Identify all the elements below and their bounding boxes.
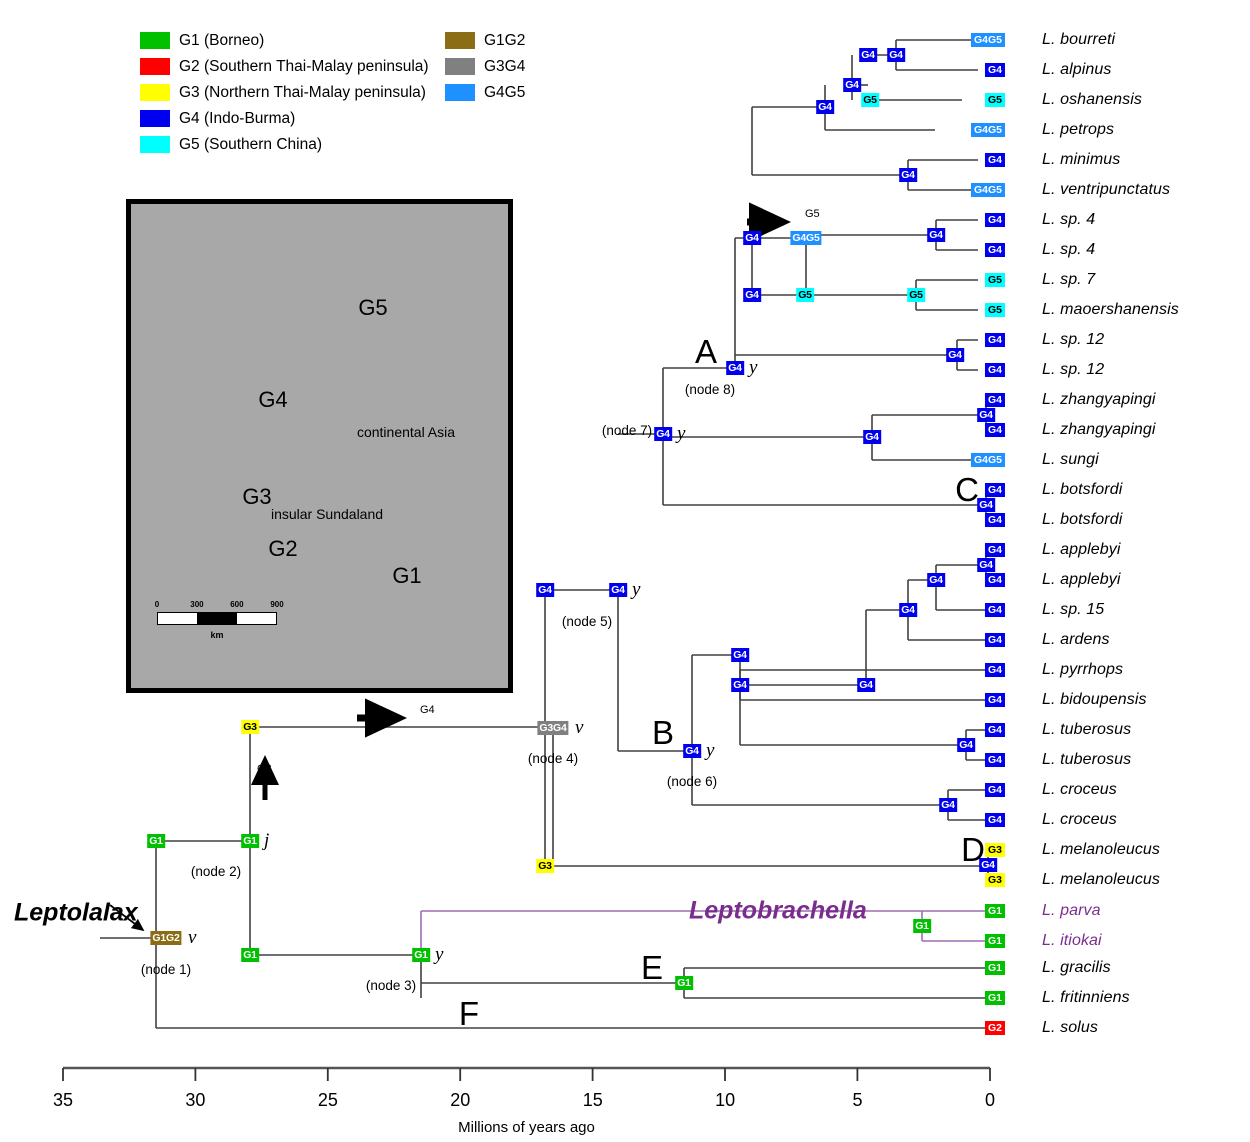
node-badge-node-5: G4 xyxy=(609,583,627,597)
tip-badge-6: G4 xyxy=(985,213,1005,227)
node-badge-10: G5 xyxy=(796,288,814,302)
map-label-g4: G4 xyxy=(258,387,287,413)
tip-label-32: L. fritinniens xyxy=(1042,989,1130,1007)
inset-map: G5G4G3G2G1continental Asiainsular Sundal… xyxy=(126,199,513,693)
legend-item: G4 (Indo-Burma) xyxy=(140,106,429,130)
node-badge-14: G4 xyxy=(863,430,881,444)
tip-label-4: L. minimus xyxy=(1042,151,1120,169)
node-badge-30: G4 xyxy=(536,583,554,597)
tip-label-15: L. botsfordi xyxy=(1042,481,1122,499)
legend-label-g5: G5 (Southern China) xyxy=(179,136,322,153)
tip-badge-3: G4G5 xyxy=(971,123,1005,137)
node-badge-22: G4 xyxy=(957,738,975,752)
tip-badge-9: G5 xyxy=(985,303,1005,317)
node-badge-6: G4 xyxy=(927,228,945,242)
node-event-node-1: v xyxy=(188,927,196,949)
legend-item: G4G5 xyxy=(445,80,525,104)
node-badge-25: G1 xyxy=(675,976,693,990)
node-badge-20: G4 xyxy=(857,678,875,692)
legend-swatch-g3 xyxy=(140,84,170,101)
tip-badge-19: G4 xyxy=(985,603,1005,617)
node-badge-26: G3 xyxy=(241,720,259,734)
legend-item: G1 (Borneo) xyxy=(140,28,429,52)
axis-tick-25: 25 xyxy=(318,1090,338,1111)
tip-label-27: L. melanoleucus xyxy=(1042,841,1160,859)
map-label-g1: G1 xyxy=(392,563,421,589)
tip-badge-5: G4G5 xyxy=(971,183,1005,197)
tip-badge-26: G4 xyxy=(985,813,1005,827)
legend-swatch-g2 xyxy=(140,58,170,75)
node-id-node-8: (node 8) xyxy=(685,382,735,397)
node-badge-24: G1 xyxy=(913,919,931,933)
map-scale-bar: 0 300 600 900 km xyxy=(157,612,277,625)
tip-label-33: L. solus xyxy=(1042,1019,1098,1037)
tip-badge-32: G1 xyxy=(985,991,1005,1005)
tip-label-30: L. itiokai xyxy=(1042,932,1102,950)
map-label-g5: G5 xyxy=(358,295,387,321)
node-badge-8: G4G5 xyxy=(790,231,821,245)
scale-tick-0: 0 xyxy=(155,600,159,609)
tip-label-6: L. sp. 4 xyxy=(1042,211,1095,229)
node-badge-0: G4 xyxy=(887,48,905,62)
clade-label-C: C xyxy=(955,471,979,509)
axis-tick-15: 15 xyxy=(583,1090,603,1111)
node-badge-15: G4 xyxy=(977,498,995,512)
tip-label-3: L. petrops xyxy=(1042,121,1114,139)
node-badge-4: G4 xyxy=(816,100,834,114)
node-badge-5: G4 xyxy=(899,168,917,182)
node-badge-27: G1 xyxy=(147,834,165,848)
tip-badge-15: G4 xyxy=(985,483,1005,497)
legend-item: G5 (Southern China) xyxy=(140,132,429,156)
axis-tick-10: 10 xyxy=(715,1090,735,1111)
node-event-node-3: y xyxy=(435,944,443,966)
tip-label-29: L. parva xyxy=(1042,902,1101,920)
node-badge-13: G4 xyxy=(977,408,995,422)
node-badge-9: G5 xyxy=(907,288,925,302)
map-label-g3: G3 xyxy=(242,484,271,510)
tip-label-11: L. sp. 12 xyxy=(1042,361,1104,379)
tip-badge-10: G4 xyxy=(985,333,1005,347)
legend-label-g1: G1 (Borneo) xyxy=(179,32,264,49)
clade-label-F: F xyxy=(459,995,479,1033)
map-label-layer: G5G4G3G2G1continental Asiainsular Sundal… xyxy=(131,204,498,678)
tip-label-12: L. zhangyapingi xyxy=(1042,391,1156,409)
clade-label-B: B xyxy=(652,714,674,752)
node-id-node-2: (node 2) xyxy=(191,864,241,879)
scale-tick-900: 900 xyxy=(270,600,283,609)
tip-badge-21: G4 xyxy=(985,663,1005,677)
dispersal-label-G4: G4 xyxy=(420,704,435,716)
scale-bar-body xyxy=(157,612,277,625)
node-badge-2: G4 xyxy=(843,78,861,92)
node-id-node-3: (node 3) xyxy=(366,978,416,993)
axis-tick-30: 30 xyxy=(185,1090,205,1111)
tip-badge-31: G1 xyxy=(985,961,1005,975)
tip-label-0: L. bourreti xyxy=(1042,31,1115,49)
tip-label-5: L. ventripunctatus xyxy=(1042,181,1170,199)
tip-badge-17: G4 xyxy=(985,543,1005,557)
node-id-node-5: (node 5) xyxy=(562,614,612,629)
tip-badge-16: G4 xyxy=(985,513,1005,527)
legend-swatch-g1g2 xyxy=(445,32,475,49)
axis-tick-5: 5 xyxy=(853,1090,863,1111)
node-event-node-8: y xyxy=(749,357,757,379)
node-badge-31: G4 xyxy=(731,648,749,662)
scale-unit: km xyxy=(210,630,223,640)
legend-swatch-g3g4 xyxy=(445,58,475,75)
tip-label-1: L. alpinus xyxy=(1042,61,1112,79)
node-id-node-7: (node 7) xyxy=(602,423,652,438)
legend-item: G2 (Southern Thai-Malay peninsula) xyxy=(140,54,429,78)
tip-badge-14: G4G5 xyxy=(971,453,1005,467)
genus-label-leptolalax: Leptolalax xyxy=(14,899,138,928)
legend-column-single: G1 (Borneo) G2 (Southern Thai-Malay peni… xyxy=(140,28,429,158)
tip-badge-0: G4G5 xyxy=(971,33,1005,47)
node-badge-node-7: G4 xyxy=(654,427,672,441)
tip-badge-1: G4 xyxy=(985,63,1005,77)
legend-swatch-g1 xyxy=(140,32,170,49)
tip-badge-4: G4 xyxy=(985,153,1005,167)
node-badge-29: G3 xyxy=(536,859,554,873)
tip-label-31: L. gracilis xyxy=(1042,959,1111,977)
tip-label-14: L. sungi xyxy=(1042,451,1099,469)
tip-badge-27: G3 xyxy=(985,843,1005,857)
tip-label-13: L. zhangyapingi xyxy=(1042,421,1156,439)
clade-a-branches xyxy=(618,40,990,520)
node-event-node-4: v xyxy=(575,717,583,739)
clade-label-D: D xyxy=(961,831,985,869)
node-badge-node-1: G1G2 xyxy=(150,931,181,945)
phylogeny-figure: G1 (Borneo) G2 (Southern Thai-Malay peni… xyxy=(0,0,1250,1142)
node-badge-11: G4 xyxy=(743,288,761,302)
legend-label-g4: G4 (Indo-Burma) xyxy=(179,110,295,127)
node-id-node-6: (node 6) xyxy=(667,774,717,789)
node-badge-28: G1 xyxy=(241,948,259,962)
tip-badge-20: G4 xyxy=(985,633,1005,647)
time-axis xyxy=(63,1068,990,1081)
tip-badge-25: G4 xyxy=(985,783,1005,797)
genus-label-leptobrachella: Leptobrachella xyxy=(689,897,867,926)
node-badge-node-2: G1 xyxy=(241,834,259,848)
node-badge-17: G4 xyxy=(977,558,995,572)
tip-badge-18: G4 xyxy=(985,573,1005,587)
tip-label-10: L. sp. 12 xyxy=(1042,331,1104,349)
tip-label-28: L. melanoleucus xyxy=(1042,871,1160,889)
legend-item: G3 (Northern Thai-Malay peninsula) xyxy=(140,80,429,104)
legend-item: G3G4 xyxy=(445,54,525,78)
node-badge-1: G4 xyxy=(859,48,877,62)
axis-title: Millions of years ago xyxy=(458,1119,595,1136)
map-label-g2: G2 xyxy=(268,536,297,562)
tip-badge-28: G3 xyxy=(985,873,1005,887)
tip-badge-2: G5 xyxy=(985,93,1005,107)
tip-label-22: L. bidoupensis xyxy=(1042,691,1147,709)
legend-swatch-g4g5 xyxy=(445,84,475,101)
tip-badge-13: G4 xyxy=(985,423,1005,437)
node-event-node-5: y xyxy=(632,579,640,601)
tip-label-20: L. ardens xyxy=(1042,631,1110,649)
tip-label-17: L. applebyi xyxy=(1042,541,1121,559)
legend-label-g4g5: G4G5 xyxy=(484,84,525,101)
axis-tick-20: 20 xyxy=(450,1090,470,1111)
tip-label-19: L. sp. 15 xyxy=(1042,601,1104,619)
node-badge-12: G4 xyxy=(946,348,964,362)
tip-badge-24: G4 xyxy=(985,753,1005,767)
legend-label-g2: G2 (Southern Thai-Malay peninsula) xyxy=(179,58,429,75)
node-id-node-1: (node 1) xyxy=(141,962,191,977)
node-event-node-7: y xyxy=(677,423,685,445)
node-badge-7: G4 xyxy=(743,231,761,245)
tip-label-9: L. maoershanensis xyxy=(1042,301,1179,319)
scale-tick-300: 300 xyxy=(190,600,203,609)
legend-label-g3: G3 (Northern Thai-Malay peninsula) xyxy=(179,84,426,101)
node-event-node-6: y xyxy=(706,740,714,762)
node-badge-23: G4 xyxy=(939,798,957,812)
tip-label-16: L. botsfordi xyxy=(1042,511,1122,529)
node-badge-node-8: G4 xyxy=(726,361,744,375)
node-event-node-2: j xyxy=(264,830,269,852)
node-badge-19: G4 xyxy=(899,603,917,617)
node-badge-21: G4 xyxy=(731,678,749,692)
tip-badge-30: G1 xyxy=(985,934,1005,948)
tip-label-25: L. croceus xyxy=(1042,781,1117,799)
tip-badge-8: G5 xyxy=(985,273,1005,287)
clade-label-E: E xyxy=(641,949,663,987)
node-badge-18: G4 xyxy=(927,573,945,587)
legend-label-g3g4: G3G4 xyxy=(484,58,525,75)
map-label-insular-sundaland: insular Sundaland xyxy=(271,506,383,522)
axis-tick-0: 0 xyxy=(985,1090,995,1111)
tip-badge-23: G4 xyxy=(985,723,1005,737)
legend-swatch-g4 xyxy=(140,110,170,127)
dispersal-label-G3: G3 xyxy=(257,763,272,775)
tip-badge-11: G4 xyxy=(985,363,1005,377)
tip-label-26: L. croceus xyxy=(1042,811,1117,829)
node-badge-node-6: G4 xyxy=(683,744,701,758)
scale-tick-600: 600 xyxy=(230,600,243,609)
tip-badge-22: G4 xyxy=(985,693,1005,707)
map-label-continental-asia: continental Asia xyxy=(357,424,455,440)
legend-column-combined: G1G2 G3G4 G4G5 xyxy=(445,28,525,106)
tip-label-24: L. tuberosus xyxy=(1042,751,1131,769)
tip-label-21: L. pyrrhops xyxy=(1042,661,1123,679)
tip-label-18: L. applebyi xyxy=(1042,571,1121,589)
legend-item: G1G2 xyxy=(445,28,525,52)
tip-label-23: L. tuberosus xyxy=(1042,721,1131,739)
tip-label-2: L. oshanensis xyxy=(1042,91,1142,109)
tip-label-8: L. sp. 7 xyxy=(1042,271,1095,289)
node-badge-3: G5 xyxy=(861,93,879,107)
legend-label-g1g2: G1G2 xyxy=(484,32,525,49)
tip-badge-12: G4 xyxy=(985,393,1005,407)
node-id-node-4: (node 4) xyxy=(528,751,578,766)
axis-tick-35: 35 xyxy=(53,1090,73,1111)
dispersal-label-G5: G5 xyxy=(805,208,820,220)
tip-badge-29: G1 xyxy=(985,904,1005,918)
clade-label-A: A xyxy=(695,333,717,371)
tip-badge-33: G2 xyxy=(985,1021,1005,1035)
tip-label-7: L. sp. 4 xyxy=(1042,241,1095,259)
tip-badge-7: G4 xyxy=(985,243,1005,257)
node-badge-node-4: G3G4 xyxy=(537,721,568,735)
legend-swatch-g5 xyxy=(140,136,170,153)
node-badge-node-3: G1 xyxy=(412,948,430,962)
